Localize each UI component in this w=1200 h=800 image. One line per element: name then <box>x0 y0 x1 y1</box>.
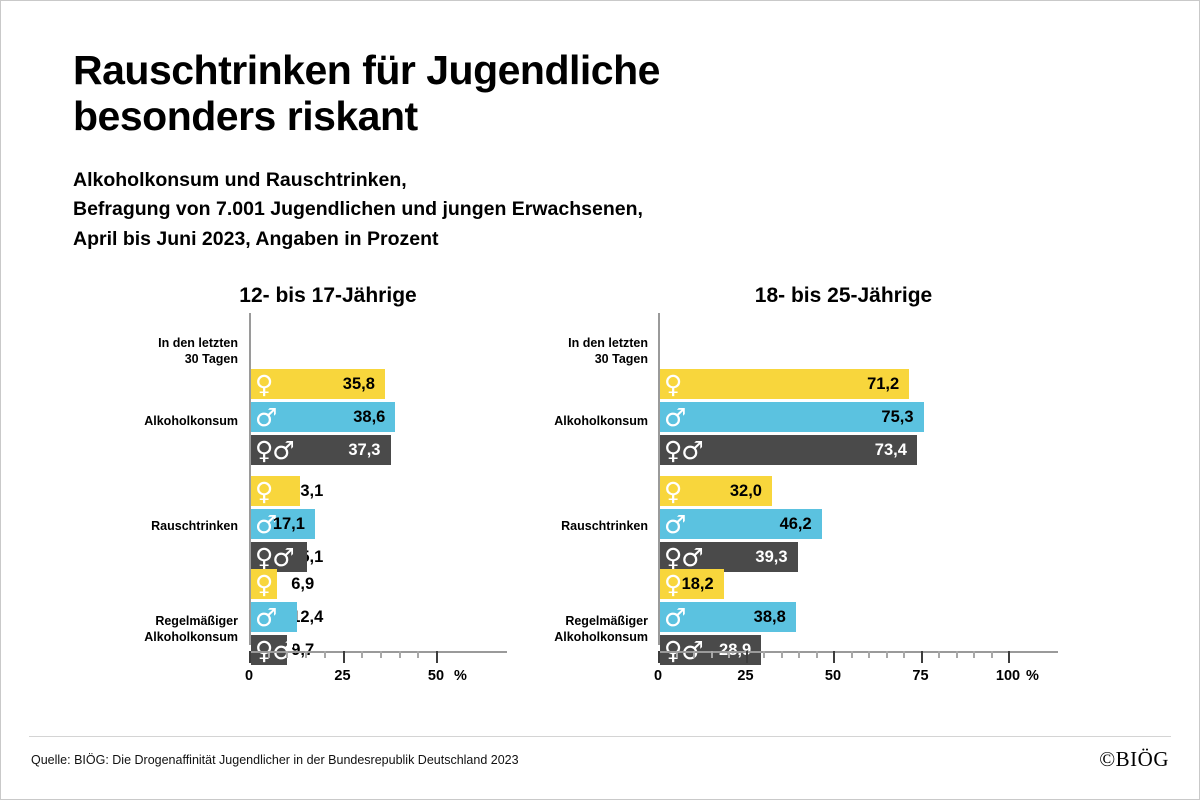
x-axis-tick-minor <box>851 651 853 658</box>
x-axis-tick-label: 50 <box>825 668 841 684</box>
gender-weiblich-icon: ♀ <box>660 572 681 597</box>
gender-gesamt-icon: ♀♂ <box>251 545 294 570</box>
bar-value-label: 9,7 <box>291 635 314 665</box>
x-axis-tick-minor <box>711 651 713 658</box>
footer-divider <box>29 736 1171 737</box>
x-axis-tick-major <box>658 651 660 663</box>
gender-gesamt-icon: ♀♂ <box>660 438 703 463</box>
bar-männlich: ♂17,1 <box>251 509 315 539</box>
category-label-regelmaessiger-right: Regelmäßiger Alkoholkonsum <box>486 613 648 645</box>
x-axis-tick-minor <box>938 651 940 658</box>
x-axis-tick-minor <box>781 651 783 658</box>
bar-row: ♀35,8 <box>251 369 543 399</box>
bar-weiblich: ♀35,8 <box>251 369 385 399</box>
gender-weiblich-icon: ♀ <box>660 479 681 504</box>
category-label-alkoholkonsum-left: Alkoholkonsum <box>73 413 238 429</box>
bars-layer-right: ♀71,2♂75,3♀♂73,4♀32,0♂46,2♀♂39,3♀18,2♂38… <box>660 313 1131 683</box>
gender-gesamt-icon: ♀♂ <box>251 638 294 663</box>
chart-title-right: 18- bis 25-Jährige <box>546 279 1131 313</box>
bar-row: ♀32,0 <box>660 476 1131 506</box>
gender-männlich-icon: ♂ <box>660 605 685 630</box>
chart-panel-12-17: 12- bis 17-Jährige In den letzten 30 Tag… <box>73 279 543 683</box>
category-label-rauschtrinken-left: Rauschtrinken <box>73 518 238 534</box>
x-axis-tick-label: 75 <box>912 668 928 684</box>
bar-weiblich: ♀32,0 <box>660 476 772 506</box>
bar-weiblich: ♀ <box>251 476 300 506</box>
x-axis-left: 02550% <box>249 651 507 653</box>
plot-area-left: In den letzten 30 Tagen Alkoholkonsum Ra… <box>73 313 543 683</box>
bar-row: ♀71,2 <box>660 369 1131 399</box>
bar-value-label: 46,2 <box>780 509 812 539</box>
gender-weiblich-icon: ♀ <box>660 372 681 397</box>
chart-title-left: 12- bis 17-Jährige <box>73 279 543 313</box>
x-axis-right: 0255075100% <box>658 651 1058 653</box>
bar-row: ♂75,3 <box>660 402 1131 432</box>
bar-row: ♀♂39,3 <box>660 542 1131 572</box>
bar-row: ♀♂37,3 <box>251 435 543 465</box>
x-axis-tick-minor <box>956 651 958 658</box>
x-axis-tick-minor <box>816 651 818 658</box>
bar-männlich: ♂46,2 <box>660 509 822 539</box>
gender-weiblich-icon: ♀ <box>251 572 272 597</box>
chart-note-left: In den letzten 30 Tagen <box>73 335 238 367</box>
x-axis-tick-label: 50 <box>428 668 444 684</box>
x-axis-tick-minor <box>973 651 975 658</box>
infographic-page: Rauschtrinken für Jugendliche besonders … <box>0 0 1200 800</box>
bar-value-label: 38,8 <box>754 602 786 632</box>
x-axis-tick-minor <box>324 651 326 658</box>
gender-gesamt-icon: ♀♂ <box>660 638 703 663</box>
x-axis-tick-label: 0 <box>654 668 662 684</box>
gender-weiblich-icon: ♀ <box>251 479 272 504</box>
bar-männlich: ♂38,6 <box>251 402 395 432</box>
bar-weiblich: ♀ <box>251 569 277 599</box>
bar-weiblich: ♀71,2 <box>660 369 909 399</box>
x-axis-tick-minor <box>361 651 363 658</box>
x-axis-tick-minor <box>693 651 695 658</box>
x-axis-tick-minor <box>380 651 382 658</box>
x-axis-unit-label: % <box>1026 668 1039 684</box>
bar-männlich: ♂75,3 <box>660 402 924 432</box>
bar-männlich: ♂38,8 <box>660 602 796 632</box>
chart-panel-18-25: 18- bis 25-Jährige In den letzten 30 Tag… <box>546 279 1131 683</box>
x-axis-tick-major <box>249 651 251 663</box>
page-title: Rauschtrinken für Jugendliche besonders … <box>73 47 1073 140</box>
gender-männlich-icon: ♂ <box>251 605 276 630</box>
x-axis-tick-major <box>833 651 835 663</box>
bar-gesamt: ♀♂ <box>251 635 287 665</box>
bar-value-label: 32,0 <box>730 476 762 506</box>
x-axis-tick-major <box>1008 651 1010 663</box>
x-axis-tick-label: 25 <box>737 668 753 684</box>
x-axis-tick-minor <box>268 651 270 658</box>
bar-row: ♀♂73,4 <box>660 435 1131 465</box>
bar-value-label: 18,2 <box>682 569 714 599</box>
x-axis-tick-minor <box>399 651 401 658</box>
bar-weiblich: ♀18,2 <box>660 569 724 599</box>
x-axis-tick-minor <box>763 651 765 658</box>
x-axis-tick-minor <box>417 651 419 658</box>
bar-value-label: 39,3 <box>755 542 787 572</box>
category-label-alkoholkonsum-right: Alkoholkonsum <box>486 413 648 429</box>
bar-value-label: 75,3 <box>881 402 913 432</box>
gender-gesamt-icon: ♀♂ <box>660 545 703 570</box>
header: Rauschtrinken für Jugendliche besonders … <box>73 47 1073 255</box>
gender-männlich-icon: ♂ <box>251 405 276 430</box>
source-note: Quelle: BIÖG: Die Drogenaffinität Jugend… <box>31 753 519 767</box>
x-axis-unit-label: % <box>454 668 467 684</box>
x-axis-tick-minor <box>305 651 307 658</box>
x-axis-tick-minor <box>868 651 870 658</box>
x-axis-tick-minor <box>728 651 730 658</box>
bar-row: ♂46,2 <box>660 509 1131 539</box>
bar-value-label: 38,6 <box>353 402 385 432</box>
bar-row: 6,9♀ <box>251 569 543 599</box>
biog-logo: ©BIÖG <box>1099 747 1169 772</box>
x-axis-tick-minor <box>286 651 288 658</box>
bar-row: 13,1♀ <box>251 476 543 506</box>
plot-area-right: In den letzten 30 Tagen Alkoholkonsum Ra… <box>546 313 1131 683</box>
bar-gesamt: ♀♂ <box>251 542 307 572</box>
gender-männlich-icon: ♂ <box>660 512 685 537</box>
x-axis-tick-label: 0 <box>245 668 253 684</box>
gender-weiblich-icon: ♀ <box>251 372 272 397</box>
x-axis-tick-minor <box>886 651 888 658</box>
gender-männlich-icon: ♂ <box>660 405 685 430</box>
bar-value-label: 6,9 <box>291 569 314 599</box>
x-axis-tick-major <box>746 651 748 663</box>
bar-row: ♂38,8 <box>660 602 1131 632</box>
bar-row: ♀18,2 <box>660 569 1131 599</box>
gender-gesamt-icon: ♀♂ <box>251 438 294 463</box>
x-axis-tick-minor <box>903 651 905 658</box>
bar-value-label: 17,1 <box>273 509 305 539</box>
x-axis-tick-minor <box>991 651 993 658</box>
x-axis-tick-major <box>921 651 923 663</box>
x-axis-tick-minor <box>798 651 800 658</box>
bar-gesamt: ♀♂37,3 <box>251 435 391 465</box>
bar-value-label: 37,3 <box>348 435 380 465</box>
bar-männlich: ♂ <box>251 602 297 632</box>
x-axis-tick-label: 100 <box>996 668 1020 684</box>
bar-value-label: 71,2 <box>867 369 899 399</box>
chart-note-right: In den letzten 30 Tagen <box>486 335 648 367</box>
bar-value-label: 73,4 <box>875 435 907 465</box>
bar-value-label: 35,8 <box>343 369 375 399</box>
bar-gesamt: ♀♂73,4 <box>660 435 917 465</box>
bar-row: 15,1♀♂ <box>251 542 543 572</box>
x-axis-tick-major <box>343 651 345 663</box>
category-label-regelmaessiger-left: Regelmäßiger Alkoholkonsum <box>73 613 238 645</box>
x-axis-tick-minor <box>676 651 678 658</box>
category-label-rauschtrinken-right: Rauschtrinken <box>486 518 648 534</box>
page-subtitle: Alkoholkonsum und Rauschtrinken, Befragu… <box>73 140 1073 255</box>
bar-row: ♀♂28,9 <box>660 635 1131 665</box>
x-axis-tick-major <box>436 651 438 663</box>
bar-gesamt: ♀♂39,3 <box>660 542 798 572</box>
x-axis-tick-label: 25 <box>334 668 350 684</box>
